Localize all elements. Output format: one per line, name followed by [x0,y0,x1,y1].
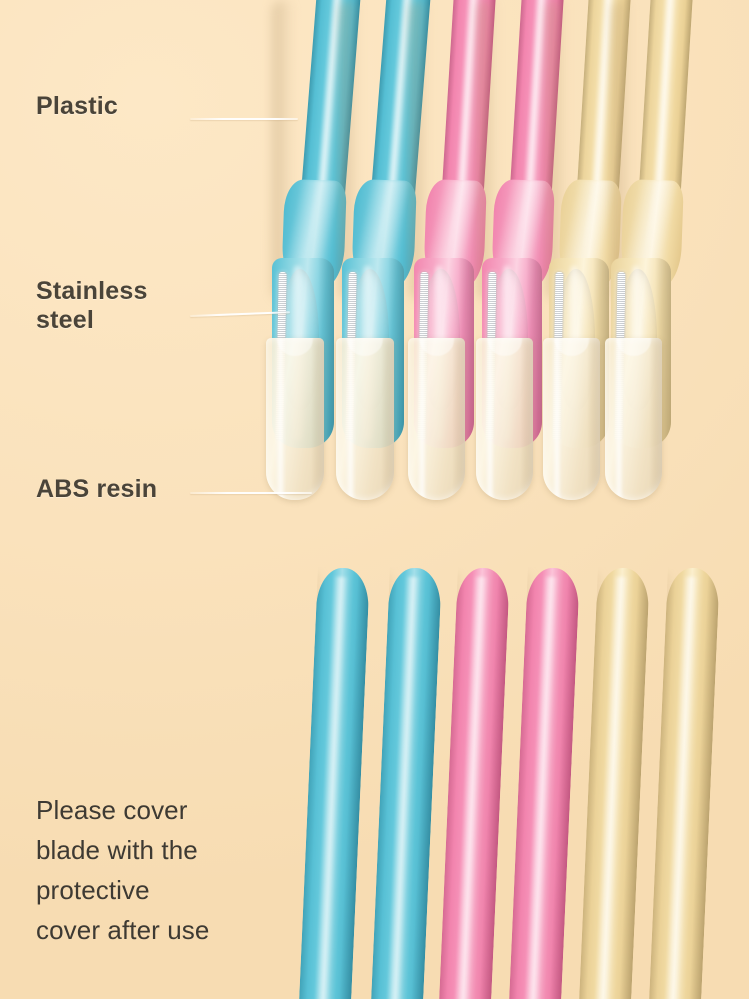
usage-note: Please cover blade with the protective c… [36,790,286,950]
infographic-canvas: Plastic Stainless steel ABS resin Please… [0,0,749,999]
protective-cover [408,338,465,500]
callout-label-abs-resin: ABS resin [36,475,157,504]
protective-cover [543,338,600,500]
protective-cover [605,338,662,500]
protective-cover [266,338,324,500]
razor-bottom-2 [371,567,442,999]
protective-cover [336,338,394,500]
razor-bottom-3 [439,567,510,999]
razor-bottom-6 [649,567,720,999]
protective-cover [476,338,533,500]
callout-leader-abs-resin [190,492,312,494]
callout-label-plastic: Plastic [36,92,118,121]
razor-bottom-4 [509,567,580,999]
razor-bottom-1 [299,567,370,999]
razor-bottom-5 [579,567,650,999]
callout-label-stainless-steel: Stainless steel [36,277,148,335]
callout-leader-plastic [190,118,298,120]
